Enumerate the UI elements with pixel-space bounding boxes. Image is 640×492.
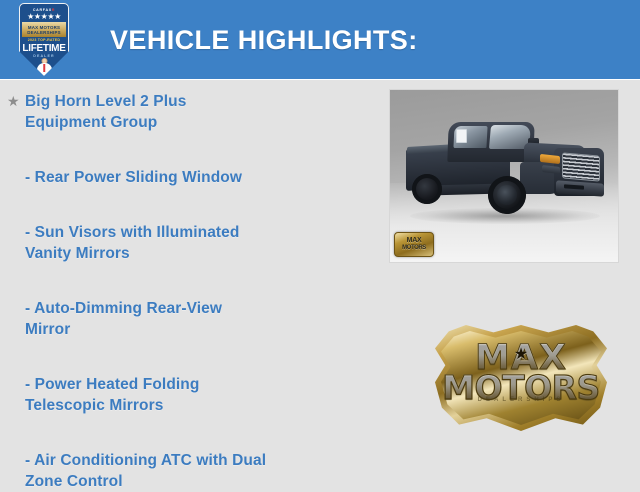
list-item: - Sun Visors with Illuminated Vanity Mir… [0,222,390,264]
carfax-lifetime-dealer-badge: CARFAXR ★★★★★ MAX MOTORS DEALERSHIPS 202… [19,3,69,76]
list-item: - Rear Power Sliding Window [0,167,390,188]
highlight-text-rear-power-sliding-window: - Rear Power Sliding Window [25,169,242,186]
star-bullet-icon: ★ [7,92,20,110]
photo-watermark-line2: MOTORS [402,245,426,252]
list-item: - Air Conditioning ATC with Dual Zone Co… [0,450,390,492]
badge-dealer-name-line2: DEALERSHIPS [27,30,60,35]
badge-gold-band: MAX MOTORS DEALERSHIPS [22,22,66,37]
badge-salesperson-icon [36,58,53,76]
highlight-text-auto-dimming-mirror: - Auto-Dimming Rear-View Mirror [25,300,222,338]
highlight-text-air-conditioning-atc: - Air Conditioning ATC with Dual Zone Co… [25,452,266,490]
list-item: - Power Heated Folding Telescopic Mirror… [0,374,390,416]
badge-shield-shape: CARFAXR ★★★★★ MAX MOTORS DEALERSHIPS 202… [19,3,69,76]
page-header: CARFAXR ★★★★★ MAX MOTORS DEALERSHIPS 202… [0,0,640,80]
pickup-truck-illustration [404,114,608,226]
list-item: ★ Big Horn Level 2 Plus Equipment Group [0,91,390,133]
page-title: VEHICLE HIGHLIGHTS: [110,0,418,80]
list-item: - Auto-Dimming Rear-View Mirror [0,298,390,340]
badge-stars: ★★★★★ [20,13,68,21]
logo-star-icon: ★ [514,347,528,363]
logo-tagline: DEALERSHIPS [435,397,607,403]
photo-watermark-line1: MAX [407,237,422,245]
max-motors-logo[interactable]: MAX ★ MOTORS DEALERSHIPS [435,325,607,431]
highlight-text-sun-visors-vanity-mirrors: - Sun Visors with Illuminated Vanity Mir… [25,224,239,262]
photo-watermark-max-motors: MAX MOTORS [394,232,434,257]
highlight-text-power-heated-folding-mirrors: - Power Heated Folding Telescopic Mirror… [25,376,199,414]
vehicle-photo[interactable]: MAX MOTORS [390,90,618,262]
highlight-text-equipment-group: Big Horn Level 2 Plus Equipment Group [25,93,186,131]
vehicle-highlights-list: ★ Big Horn Level 2 Plus Equipment Group … [0,81,390,480]
badge-lifetime-label: LIFETIME [20,43,68,54]
badge-top-rated-label: 2023 TOP-RATED [20,38,68,42]
